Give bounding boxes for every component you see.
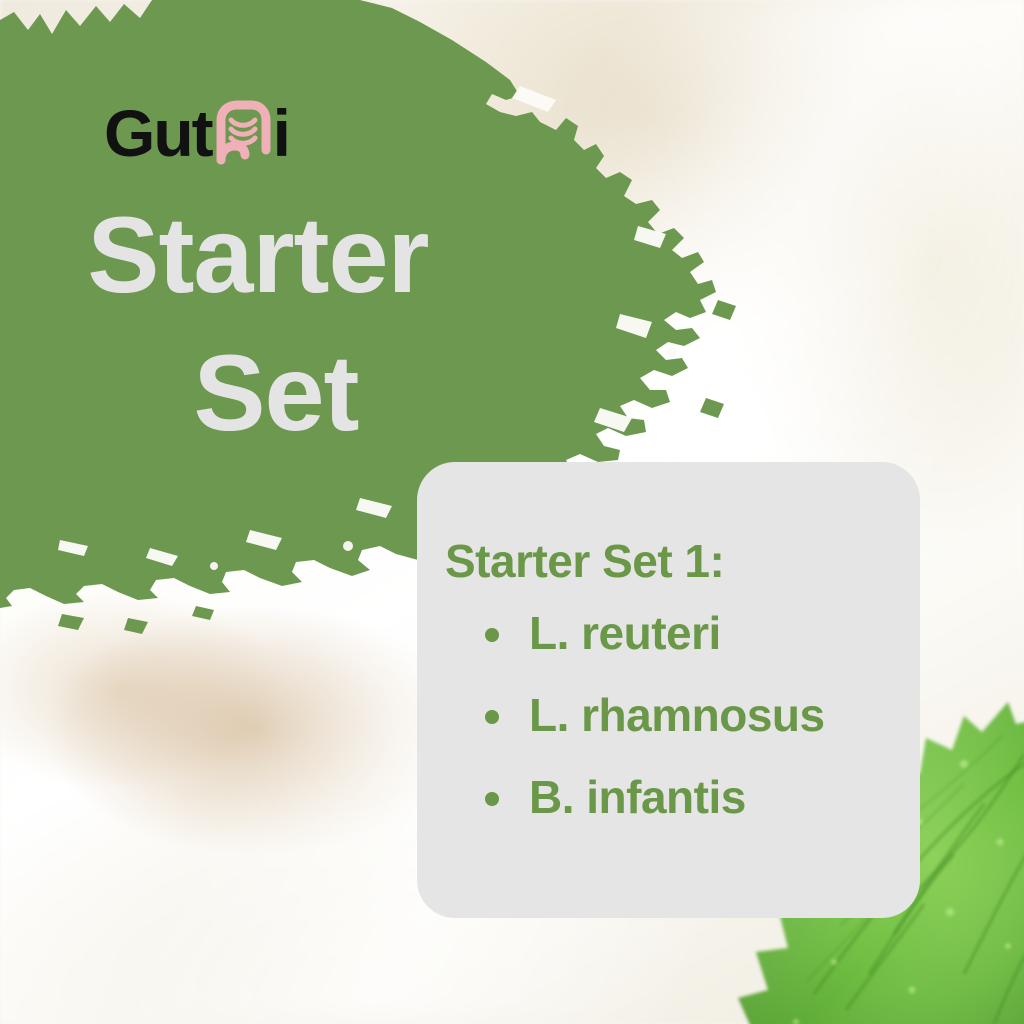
list-item-label: L. reuteri (529, 607, 721, 659)
list-item: B. infantis (485, 774, 920, 820)
poster-canvas: Gut i Starter Set (0, 0, 1024, 1024)
strain-list: L. reuteri L. rhamnosus B. infantis (445, 610, 920, 820)
intestine-icon (208, 98, 278, 168)
list-item: L. reuteri (485, 610, 920, 656)
logo-text-gut: Gut (104, 100, 212, 166)
bullet-icon (485, 710, 499, 724)
list-item-label: L. rhamnosus (529, 689, 825, 741)
bullet-icon (485, 792, 499, 806)
list-item: L. rhamnosus (485, 692, 920, 738)
headline-line-1: Starter (0, 186, 560, 324)
logo-text-i: i (273, 100, 289, 166)
page-title: Starter Set (0, 186, 560, 462)
starter-set-card: Starter Set 1: L. reuteri L. rhamnosus B… (417, 462, 920, 918)
bullet-icon (485, 628, 499, 642)
brand-logo: Gut i (104, 96, 289, 170)
headline-line-2: Set (0, 324, 560, 462)
card-title: Starter Set 1: (445, 538, 920, 584)
list-item-label: B. infantis (529, 771, 746, 823)
